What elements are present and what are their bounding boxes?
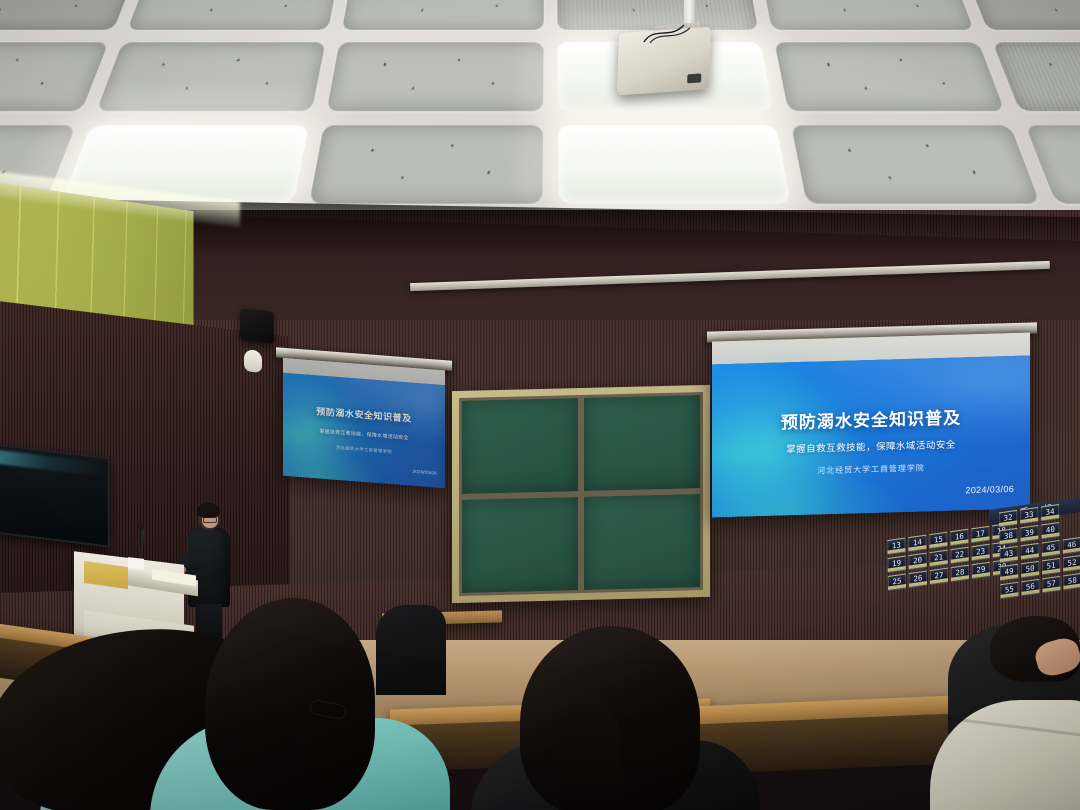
main-projection-screen: 预防溺水安全知识普及 掌握自救互救技能，保障水域活动安全 河北经贸大学工商管理学…	[712, 333, 1030, 518]
ceiling-panel	[963, 0, 1080, 30]
phone-slot[interactable]: 26	[909, 571, 927, 588]
phone-slot[interactable]: 23	[972, 544, 990, 561]
phone-slot[interactable]: 45	[1042, 540, 1060, 557]
glasses-icon	[203, 517, 217, 523]
ceiling-panel	[342, 0, 544, 30]
phone-slot[interactable]: 56	[1021, 579, 1039, 596]
phone-slot[interactable]: 38	[999, 528, 1017, 545]
phone-slot[interactable]: 20	[909, 553, 927, 570]
ceiling-panel	[760, 0, 973, 30]
chalkboard-panel	[462, 497, 578, 593]
slide-title: 预防溺水安全知识普及	[712, 401, 1030, 435]
chalkboard-panel	[584, 395, 700, 491]
slide-surface: 预防溺水安全知识普及 掌握自救互救技能，保障水域活动安全 河北经贸大学工商管理学…	[283, 373, 445, 488]
phone-slot[interactable]: 28	[951, 565, 969, 582]
student-hair	[205, 598, 375, 810]
phone-slot[interactable]: 46	[1063, 537, 1080, 554]
chalkboard-panel	[584, 494, 700, 590]
phone-slot[interactable]: 51	[1042, 558, 1060, 575]
phone-slot[interactable]: 13	[887, 538, 905, 555]
wall-monitor[interactable]	[0, 442, 110, 547]
phone-slot[interactable]: 34	[1041, 504, 1059, 521]
slide-date: 2024/03/06	[965, 484, 1014, 495]
wall-spotlight	[244, 349, 262, 373]
phone-slot[interactable]: 16	[950, 529, 968, 546]
phone-slot[interactable]: 40	[1041, 522, 1059, 539]
phone-slot[interactable]: 55	[1000, 582, 1018, 599]
phone-slot[interactable]: 29	[972, 562, 990, 579]
lectern-note	[128, 557, 144, 570]
phone-slot[interactable]: 33	[1020, 507, 1038, 524]
phone-slot[interactable]: 52	[1063, 555, 1080, 572]
phone-slot[interactable]: 15	[929, 532, 947, 549]
phone-slot[interactable]: 25	[888, 574, 906, 591]
ceiling-panel	[327, 42, 543, 110]
microphone-head	[138, 524, 144, 531]
ceiling-panel	[96, 42, 326, 110]
chalkboard-panel	[462, 398, 578, 494]
slide-organization: 河北经贸大学工商管理学院	[283, 441, 445, 459]
phone-slot[interactable]: 21	[930, 550, 948, 567]
phone-slot[interactable]: 27	[930, 568, 948, 585]
slide-surface: 预防溺水安全知识普及 掌握自救互救技能，保障水域活动安全 河北经贸大学工商管理学…	[712, 355, 1030, 517]
slide-organization: 河北经贸大学工商管理学院	[712, 460, 1030, 480]
slide-date: 2024/03/06	[413, 468, 437, 475]
phone-slot[interactable]: 19	[888, 556, 906, 573]
projector-cables	[640, 22, 700, 44]
slide-subtitle: 掌握自救互救技能，保障水域活动安全	[283, 424, 445, 443]
ceiling-panel	[0, 0, 137, 30]
phone-board-rows-left: 131415161718192021222324252627282930	[887, 523, 1011, 594]
ceiling-panel	[127, 0, 340, 30]
phone-slot[interactable]: 39	[1020, 525, 1038, 542]
ceiling-panel	[0, 42, 108, 110]
ceiling-panel	[791, 125, 1040, 204]
phone-slot[interactable]: 57	[1042, 576, 1060, 593]
phone-slot[interactable]: 49	[1000, 564, 1018, 581]
phone-slot[interactable]: 17	[971, 526, 989, 543]
ceiling-panel	[774, 42, 1004, 110]
lecture-hall-photo: 预防溺水安全知识普及 掌握自救互救技能，保障水域活动安全 河北经贸大学工商管理学…	[0, 0, 1080, 810]
slide-subtitle: 掌握自救互救技能，保障水域活动安全	[712, 435, 1030, 458]
phone-slot[interactable]: 14	[908, 535, 926, 552]
slide-title: 预防溺水安全知识普及	[283, 402, 445, 427]
student-silhouette	[376, 605, 446, 695]
ceiling-light-panel	[558, 125, 791, 204]
ceiling-panel	[992, 42, 1080, 110]
phone-slot[interactable]: 50	[1021, 561, 1039, 578]
phone-slot[interactable]: 58	[1063, 573, 1080, 590]
student-ponytail	[555, 700, 621, 810]
ceiling-panel	[309, 125, 542, 204]
phone-slot[interactable]: 43	[1000, 546, 1018, 563]
phone-slot[interactable]: 32	[999, 510, 1017, 527]
secondary-projection-screen: 预防溺水安全知识普及 掌握自救互救技能，保障水域活动安全 河北经贸大学工商管理学…	[283, 358, 445, 488]
chalkboard	[452, 385, 710, 603]
wall-speaker	[240, 308, 274, 344]
phone-slot[interactable]: 44	[1021, 543, 1039, 560]
phone-slot[interactable]: 22	[951, 547, 969, 564]
projector-lens	[687, 73, 701, 83]
phone-board-rows-right: 323334383940434445464950515255565758	[999, 501, 1080, 602]
presenter-hair	[197, 503, 220, 518]
